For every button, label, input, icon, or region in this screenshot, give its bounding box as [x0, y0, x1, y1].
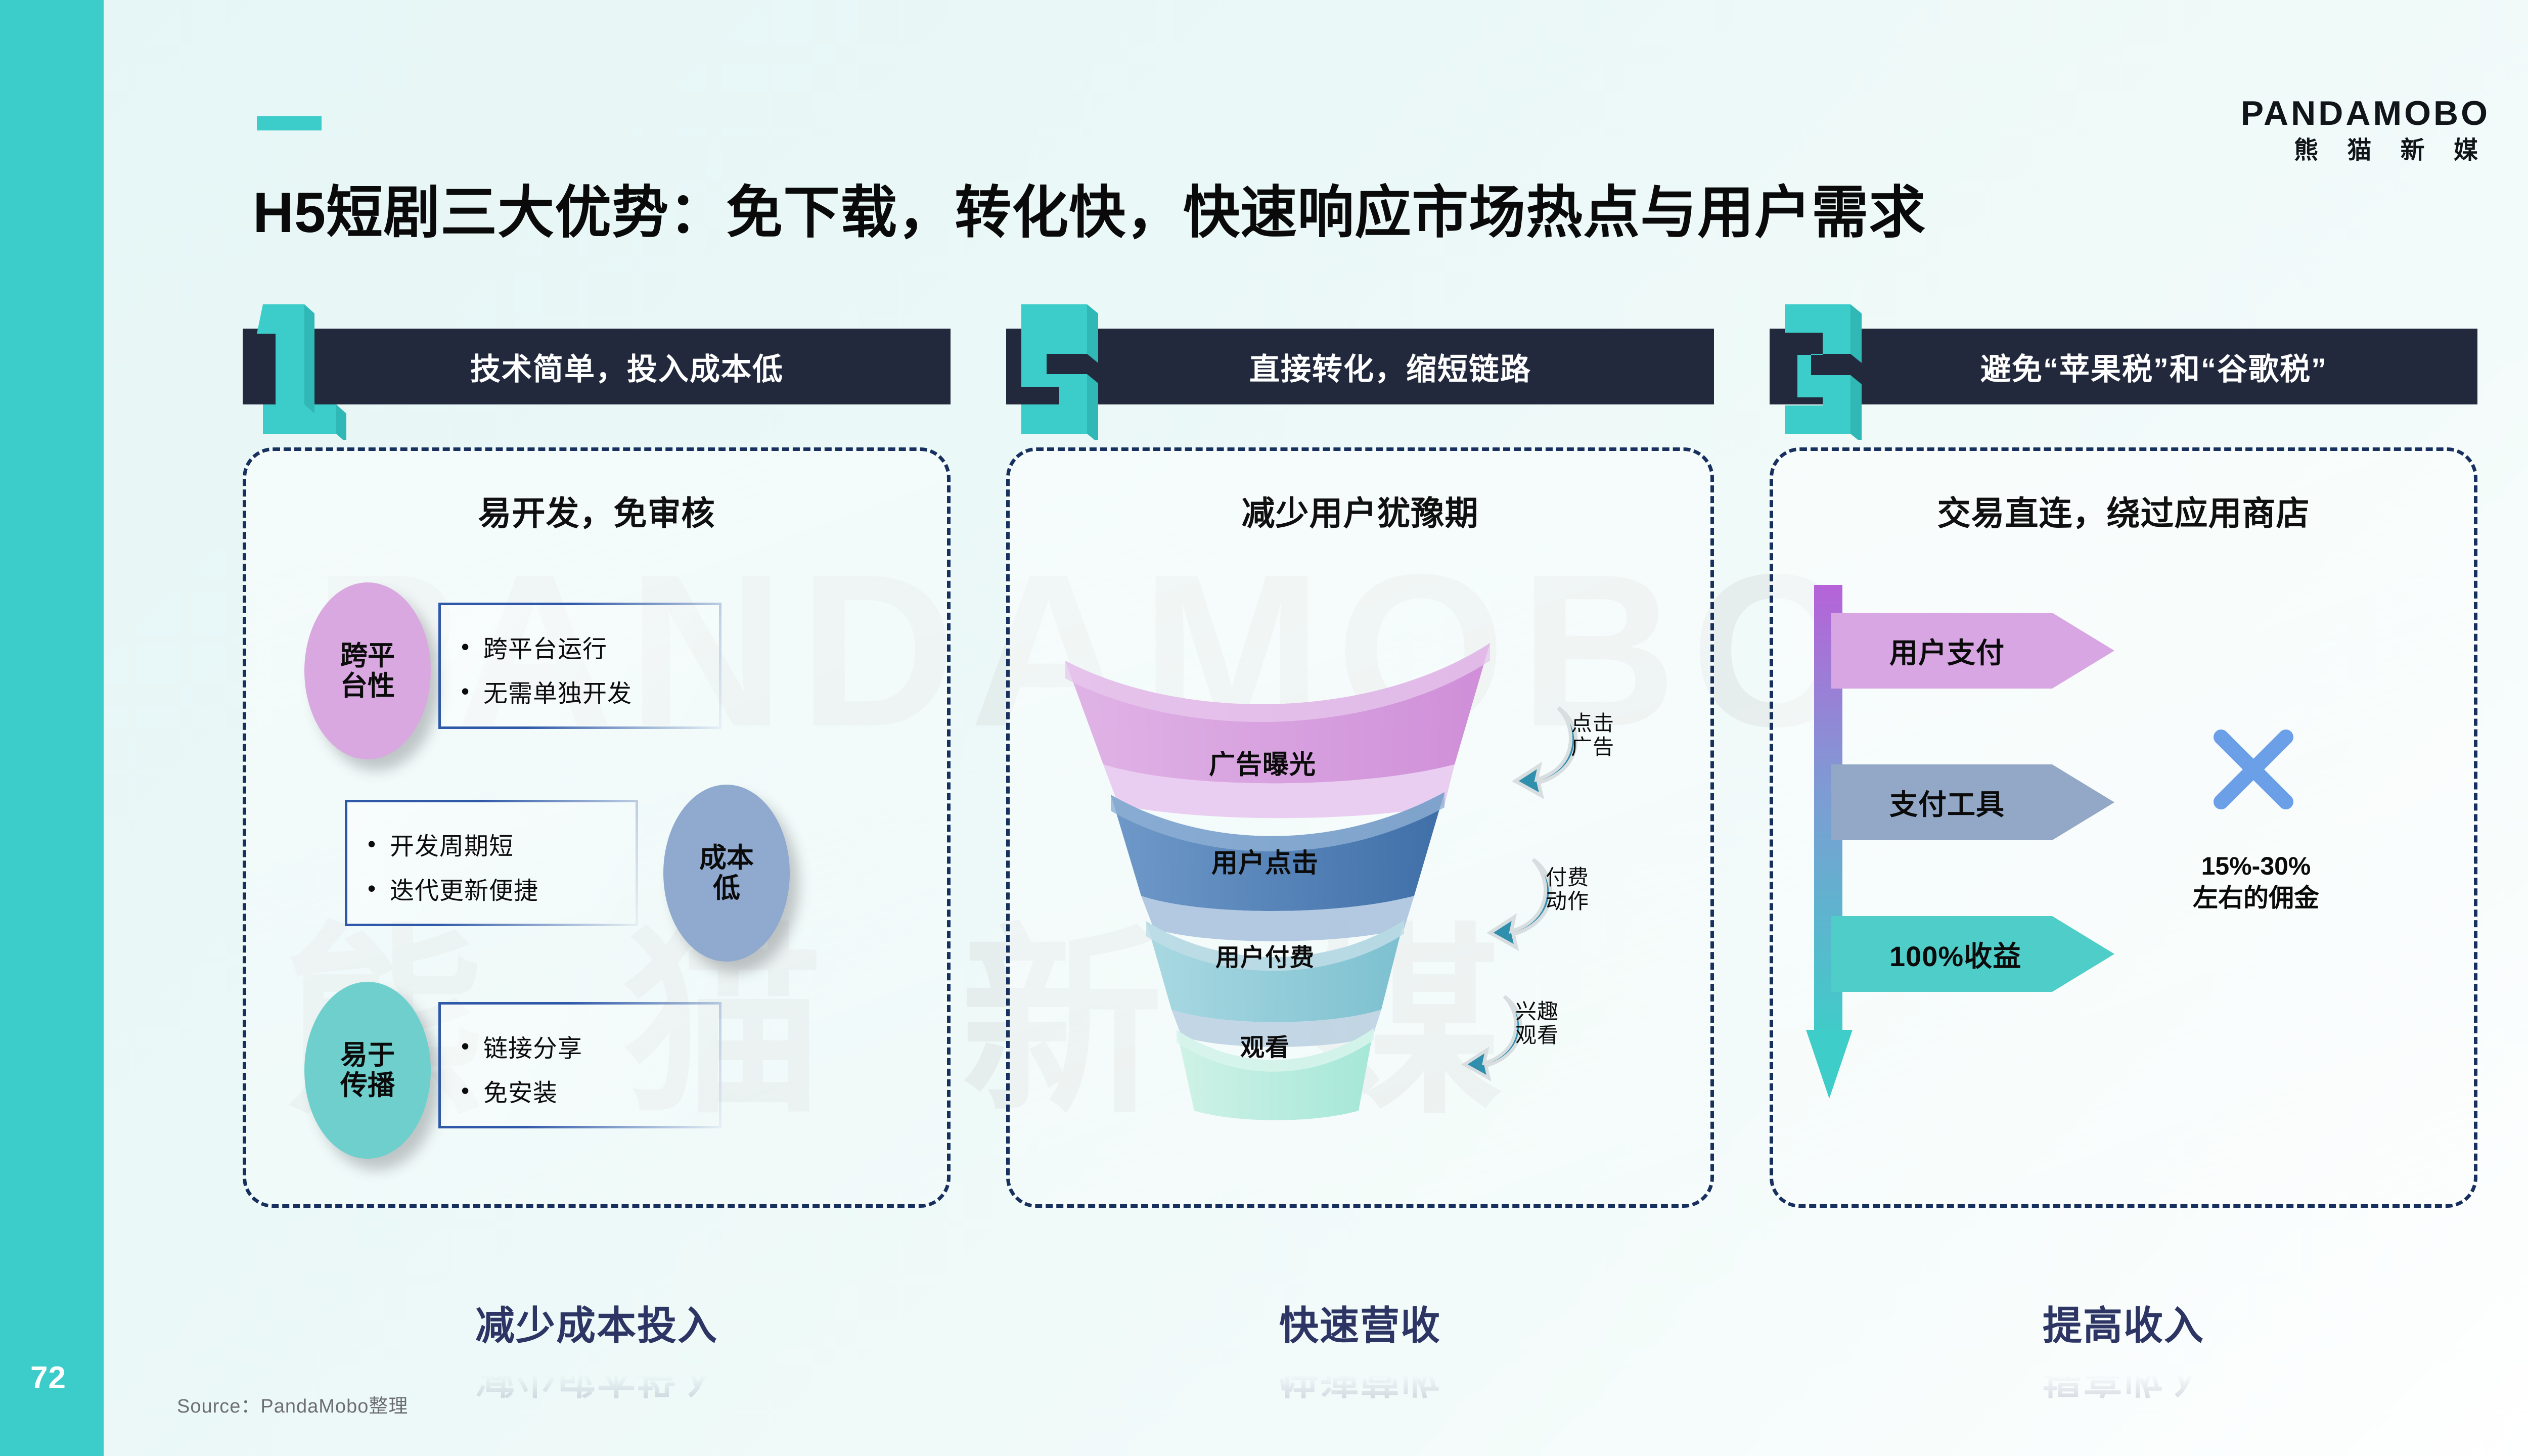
oval-easy-share: 易于 传播: [304, 982, 431, 1159]
footer-caption-reflection: 提高收入: [1770, 1353, 2477, 1409]
card-2: 减少用户犹豫期: [1006, 447, 1714, 1208]
bullet-dot-icon: •: [368, 877, 390, 900]
bullet-box-3: •链接分享 •免安装: [438, 1002, 721, 1128]
arrow-click-ad-icon: [1510, 699, 1581, 800]
brand-logo: PANDAMOBO 熊 猫 新 媒: [2241, 96, 2490, 163]
logo-chinese-name: 熊 猫 新 媒: [2241, 139, 2490, 163]
header-label: 避免“苹果税”和“谷歌税”: [1920, 345, 2327, 389]
bullet-item: •无需单独开发: [461, 669, 699, 713]
card-3-title: 交易直连，绕过应用商店: [1773, 486, 2474, 535]
page-number: 72: [30, 1360, 101, 1396]
arrow-label-payment-action: 付费 动作: [1546, 866, 1589, 913]
column-2: 直接转化，缩短链路 减少用户犹豫期: [1006, 303, 1714, 1208]
bullet-item: •跨平台运行: [461, 624, 699, 669]
source-note: Source：PandaMobo整理: [177, 1390, 408, 1418]
arrow-payment-action-icon: [1485, 850, 1556, 951]
oval-line: 成本: [699, 843, 754, 873]
footer-caption-3: 提高收入 提高收入: [1770, 1294, 2477, 1409]
title-accent-bar: [257, 116, 322, 130]
column-3-header: 避免“苹果税”和“谷歌税”: [1770, 303, 2477, 420]
arrow-label-interest-watch: 兴趣 观看: [1515, 999, 1559, 1047]
column-1: 技术简单，投入成本低 易开发，免审核 跨平 台性 •跨平台运行 •无需单独开发 …: [243, 303, 951, 1208]
page-title: H5短剧三大优势：免下载，转化快，快速响应市场热点与用户需求: [253, 167, 1926, 249]
logo-wordmark: PANDAMOBO: [2241, 96, 2490, 130]
card-3: 交易直连，绕过应用商店 用户支付 支付工具 100%收益: [1770, 447, 2477, 1208]
bullet-dot-icon: •: [368, 832, 390, 855]
numeral-1-icon: [248, 298, 364, 440]
funnel-stage-label-3: 用户付费: [1010, 937, 1520, 973]
bullet-item: •开发周期短: [368, 822, 615, 866]
oval-line: 跨平: [340, 641, 395, 671]
funnel-stage-label-1: 广告曝光: [1010, 743, 1515, 781]
oval-cross-platform: 跨平 台性: [304, 582, 431, 759]
column-1-header: 技术简单，投入成本低: [243, 303, 951, 420]
bullet-item: •迭代更新便捷: [368, 866, 615, 911]
oval-line: 易于: [340, 1040, 395, 1070]
oval-line: 台性: [340, 671, 395, 701]
commission-note: 15%-30% 左右的佣金: [2157, 850, 2355, 914]
footer-caption-reflection: 快速营收: [1006, 1353, 1714, 1409]
header-label: 技术简单，投入成本低: [410, 345, 784, 389]
bullet-box-1: •跨平台运行 •无需单独开发: [438, 603, 721, 729]
bullet-box-2: •开发周期短 •迭代更新便捷: [345, 800, 638, 926]
funnel-stage-label-2: 用户点击: [1010, 842, 1520, 880]
bullet-dot-icon: •: [461, 679, 483, 703]
oval-low-cost: 成本 低: [663, 785, 790, 962]
card-2-title: 减少用户犹豫期: [1010, 486, 1710, 535]
bullet-dot-icon: •: [461, 635, 483, 658]
slide-root: PANDAMOBO 熊猫新媒 72 PANDAMOBO 熊 猫 新 媒 H5短剧…: [0, 0, 2528, 1456]
oval-line: 低: [713, 873, 740, 903]
bullet-dot-icon: •: [461, 1034, 483, 1058]
card-1: 易开发，免审核 跨平 台性 •跨平台运行 •无需单独开发 成本 低 •开发周期短…: [243, 447, 951, 1208]
chevron-payment-tool: 支付工具: [1831, 764, 2114, 840]
left-rail: [0, 0, 104, 1456]
bullet-item: •链接分享: [461, 1024, 699, 1068]
close-x-icon: [2208, 724, 2299, 815]
oval-line: 传播: [340, 1070, 395, 1101]
card-1-title: 易开发，免审核: [246, 486, 947, 535]
chevron-full-revenue: 100%收益: [1831, 916, 2114, 992]
bullet-dot-icon: •: [461, 1079, 483, 1102]
column-2-header: 直接转化，缩短链路: [1006, 303, 1714, 420]
arrow-label-click-ad: 点击 广告: [1571, 711, 1614, 759]
funnel-stage-label-4: 观看: [1010, 1027, 1520, 1063]
chevron-user-payment: 用户支付: [1831, 613, 2114, 689]
numeral-3-icon: [1775, 298, 1891, 440]
column-3: 避免“苹果税”和“谷歌税” 交易直连，绕过应用商店: [1770, 303, 2477, 1208]
header-label: 直接转化，缩短链路: [1189, 345, 1531, 389]
numeral-2-icon: [1011, 298, 1127, 440]
footer-caption-2: 快速营收 快速营收: [1006, 1294, 1714, 1409]
bullet-item: •免安装: [461, 1068, 699, 1113]
